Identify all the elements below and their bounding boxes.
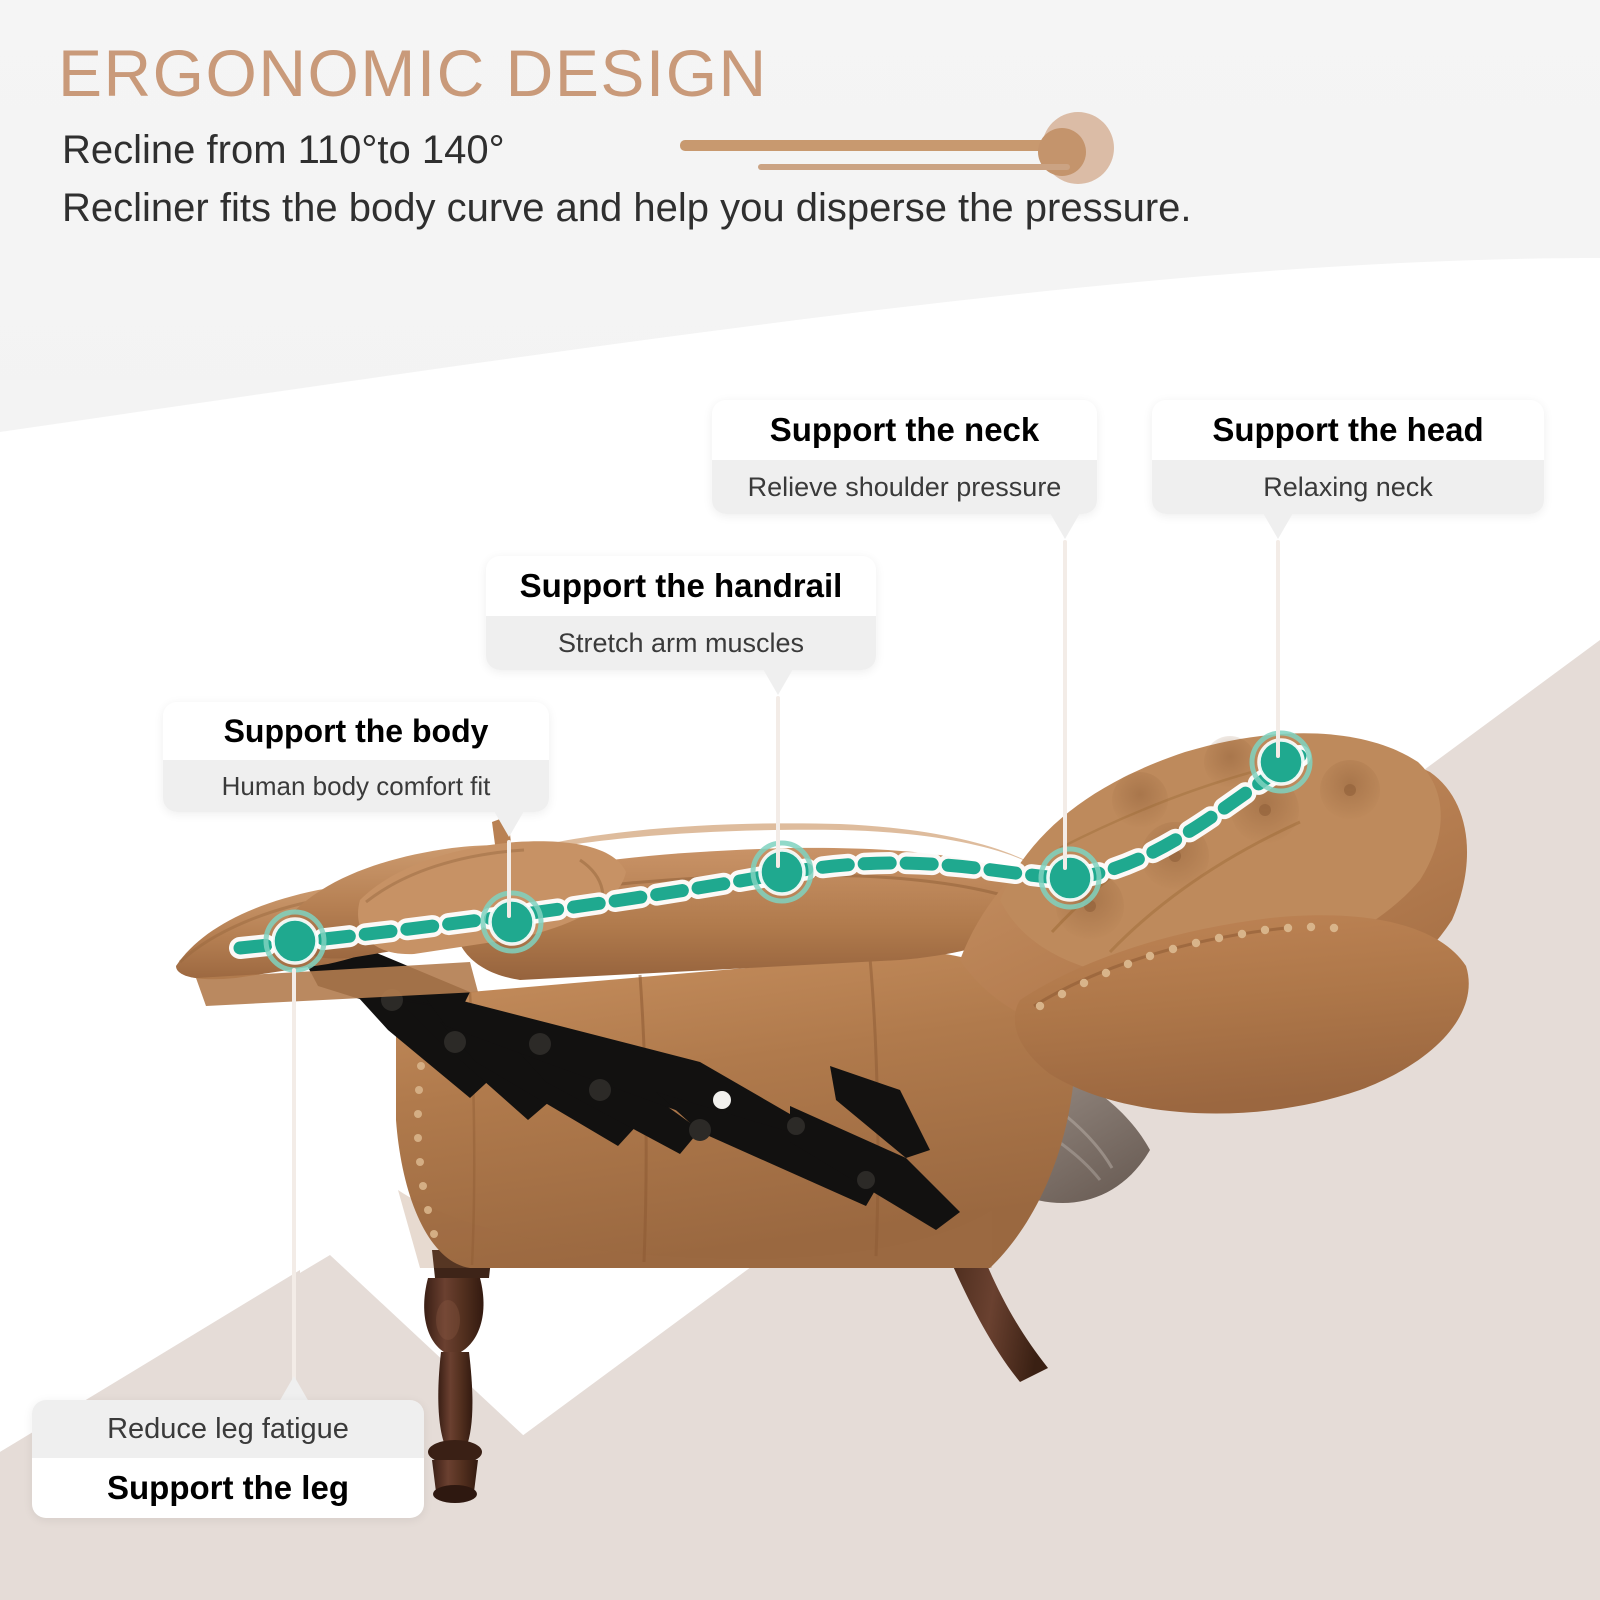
callout-support-the-body[interactable]: Support the body Human body comfort fit (163, 702, 549, 812)
ergonomic-marker-leg (266, 912, 324, 970)
callout-tail-leg (279, 1376, 309, 1402)
callout-title: Support the head (1152, 400, 1544, 460)
callout-subtitle: Reduce leg fatigue (32, 1400, 424, 1458)
callout-subtitle: Stretch arm muscles (486, 616, 876, 670)
callout-title: Support the handrail (486, 556, 876, 616)
callout-support-the-leg[interactable]: Reduce leg fatigue Support the leg (32, 1400, 424, 1518)
callout-tail-neck (1050, 513, 1080, 539)
callout-support-the-head[interactable]: Support the head Relaxing neck (1152, 400, 1544, 514)
callout-tail-handrail (763, 669, 793, 695)
callout-title: Support the leg (32, 1458, 424, 1518)
leader-line-body (507, 840, 511, 918)
leader-line-handrail (776, 696, 780, 868)
infographic-canvas: ERGONOMIC DESIGN Recline from 110°to 140… (0, 0, 1600, 1600)
callout-subtitle: Human body comfort fit (163, 760, 549, 812)
leader-line-neck (1063, 540, 1067, 870)
callout-support-the-neck[interactable]: Support the neck Relieve shoulder pressu… (712, 400, 1097, 514)
leader-line-leg (292, 968, 296, 1388)
callout-tail-head (1263, 513, 1293, 539)
callout-title: Support the body (163, 702, 549, 760)
ergonomic-marker-handrail (753, 843, 811, 901)
callout-title: Support the neck (712, 400, 1097, 460)
callout-tail-body (494, 811, 524, 837)
ergonomic-marker-body (483, 893, 541, 951)
ergonomic-marker-head (1252, 733, 1310, 791)
leader-line-head (1276, 540, 1280, 758)
callout-subtitle: Relieve shoulder pressure (712, 460, 1097, 514)
ergonomic-marker-neck (1041, 849, 1099, 907)
callout-support-the-handrail[interactable]: Support the handrail Stretch arm muscles (486, 556, 876, 670)
callout-subtitle: Relaxing neck (1152, 460, 1544, 514)
